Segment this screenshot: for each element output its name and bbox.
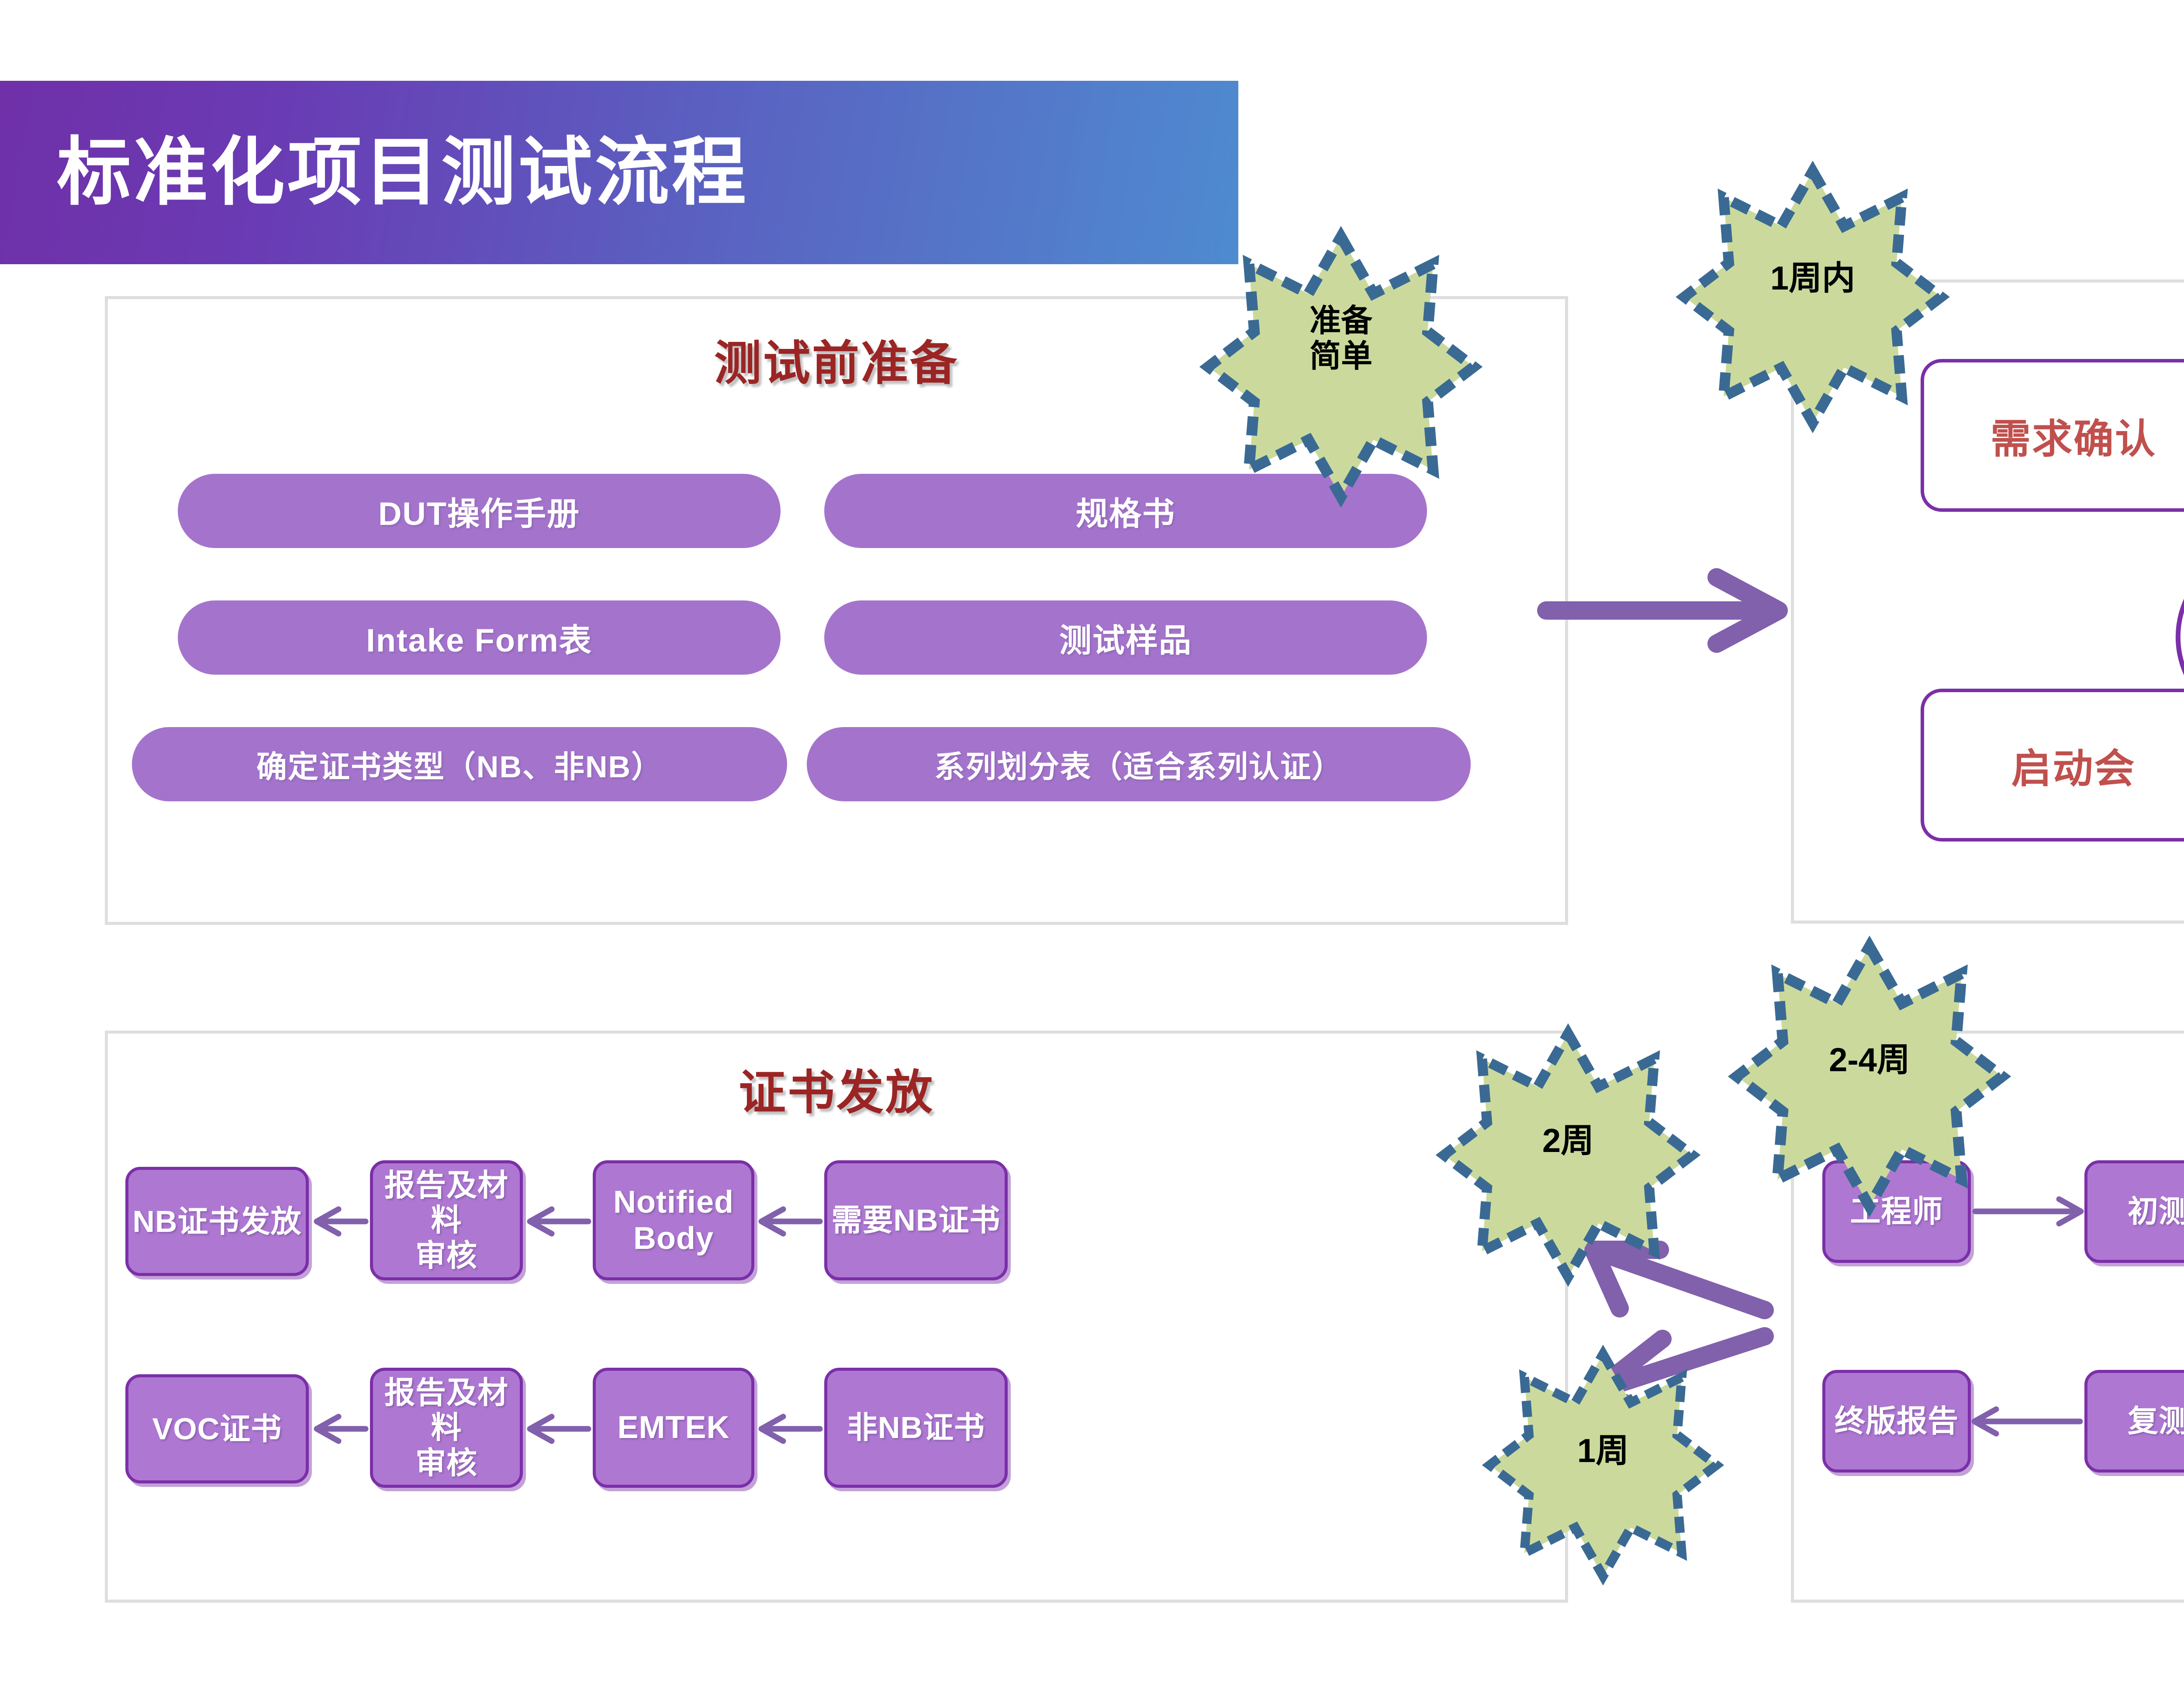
callout-prep-simple: 准备 简单 [1206, 218, 1476, 515]
callout-label-2-weeks: 2周 [1433, 1122, 1704, 1159]
certificate-flow-arrows [108, 1034, 1571, 1606]
callout-2-4-weeks: 2-4周 [1717, 941, 2022, 1212]
kbox-kickoff-meeting[interactable]: 启动会 [1921, 689, 2184, 841]
callout-label-prep-simple: 准备 简单 [1206, 303, 1476, 374]
page-title: 标准化项目测试流程 [57, 135, 749, 210]
callout-within-1-week: 1周内 [1642, 166, 1983, 428]
pill-dut-manual[interactable]: DUT操作手册 [178, 474, 781, 548]
pill-intake-form[interactable]: Intake Form表 [178, 600, 781, 675]
cycle-arrows-icon [2170, 414, 2184, 841]
pill-test-sample[interactable]: 测试样品 [824, 600, 1427, 675]
callout-label-1-week: 1周 [1481, 1432, 1725, 1469]
callout-1-week: 1周 [1481, 1349, 1725, 1581]
callout-label-2-4-weeks: 2-4周 [1717, 1042, 2022, 1079]
title-banner: 标准化项目测试流程 [0, 81, 1238, 264]
pill-series-table[interactable]: 系列划分表（适合系列认证） [807, 727, 1471, 801]
pill-certificate-type[interactable]: 确定证书类型（NB、非NB） [132, 727, 787, 801]
callout-label-within-1-week: 1周内 [1642, 260, 1983, 297]
panel-certificate-issuance: 证书发放 NB证书发放 报告及材料 审核 Notified Body 需要NB证… [105, 1031, 1568, 1603]
callout-2-weeks: 2周 [1433, 1028, 1704, 1282]
